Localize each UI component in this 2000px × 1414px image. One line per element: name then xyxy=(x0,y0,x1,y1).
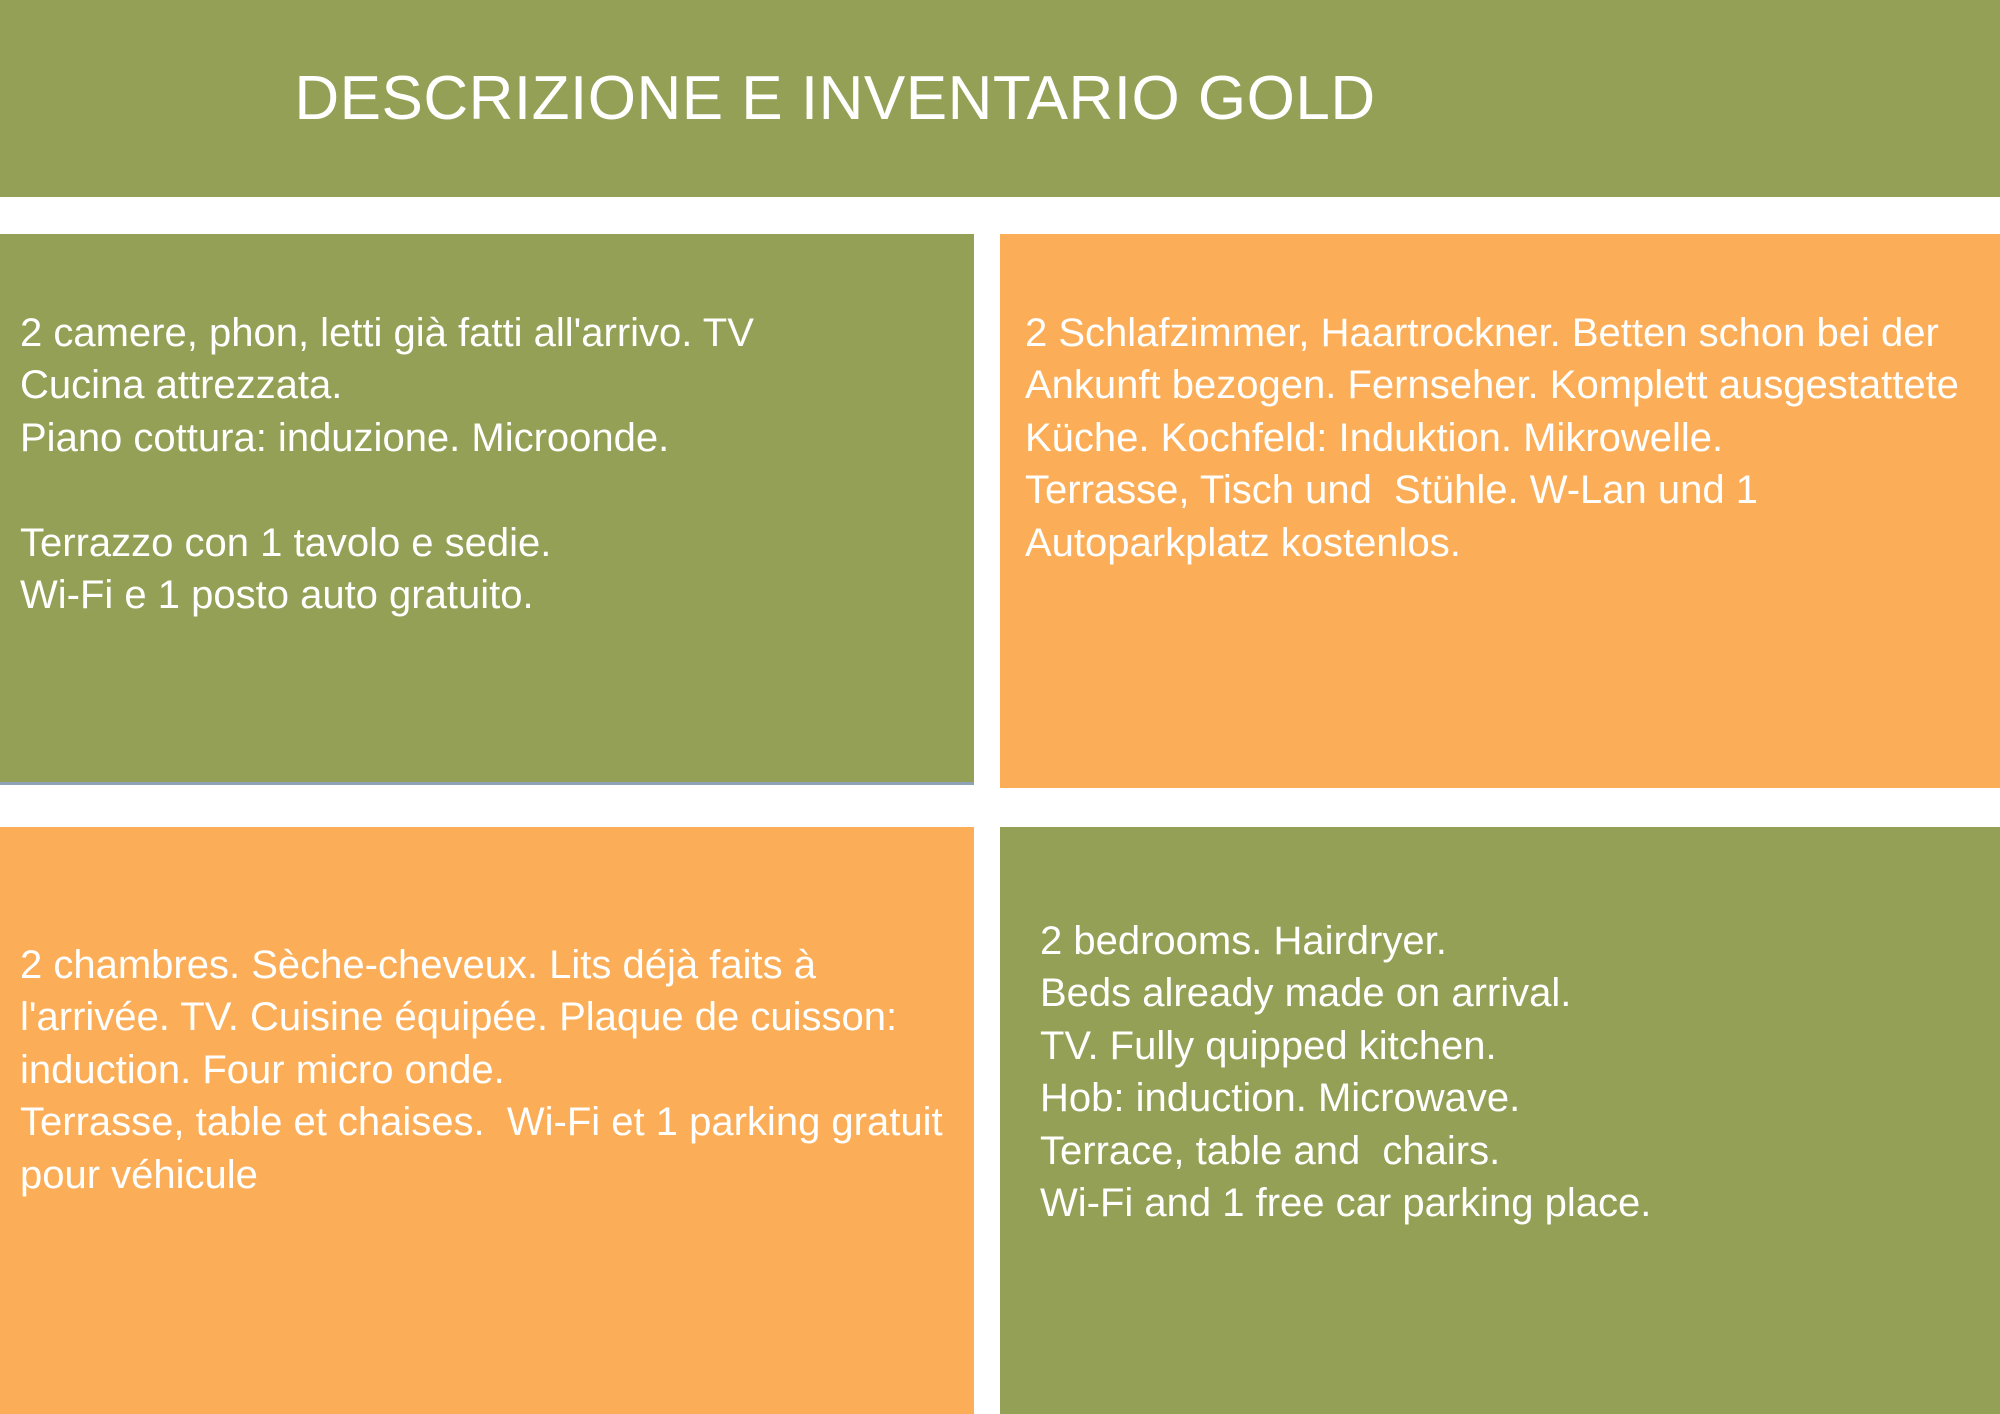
page-title: DESCRIZIONE E INVENTARIO GOLD xyxy=(0,0,2000,197)
header-banner: DESCRIZIONE E INVENTARIO GOLD xyxy=(0,0,2000,197)
panel-french-text: 2 chambres. Sèche-cheveux. Lits déjà fai… xyxy=(20,827,948,1201)
inventory-poster: DESCRIZIONE E INVENTARIO GOLD 2 camere, … xyxy=(0,0,2000,1414)
panel-english-text: 2 bedrooms. Hairdryer. Beds already made… xyxy=(1040,827,1976,1229)
panel-french: 2 chambres. Sèche-cheveux. Lits déjà fai… xyxy=(0,827,974,1414)
panel-german: 2 Schlafzimmer, Haartrockner. Betten sch… xyxy=(1000,234,2000,788)
panel-italian: 2 camere, phon, letti già fatti all'arri… xyxy=(0,234,974,785)
panel-english: 2 bedrooms. Hairdryer. Beds already made… xyxy=(1000,827,2000,1414)
panel-italian-text: 2 camere, phon, letti già fatti all'arri… xyxy=(20,234,948,621)
panel-german-text: 2 Schlafzimmer, Haartrockner. Betten sch… xyxy=(1025,234,1976,569)
